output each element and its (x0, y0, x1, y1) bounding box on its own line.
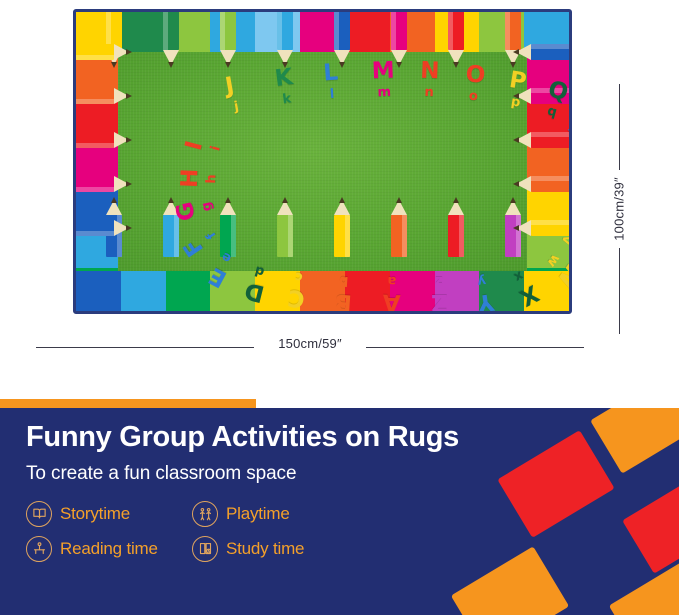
rug-letter-upper: K (273, 64, 294, 92)
rug-letter-lower: y (473, 274, 486, 288)
pencil-bottom (220, 200, 236, 257)
feature-item-study-time: Study time (192, 536, 382, 562)
rug-letter-upper: Y (475, 288, 495, 314)
open-book-icon (26, 501, 52, 527)
dimension-width: 150cm/59″ (36, 336, 584, 360)
rug-letter-lower: z (431, 274, 443, 287)
feature-label: Storytime (60, 504, 130, 524)
feature-list: StorytimePlaytimeReading timeStudy time (26, 501, 496, 562)
marketing-banner: Funny Group Activities on Rugs To create… (0, 408, 679, 615)
dimension-width-label: 150cm/59″ (36, 336, 584, 351)
diamond-red-right (622, 476, 679, 573)
feature-label: Playtime (226, 504, 290, 524)
rug-letter-lower: c (290, 269, 304, 284)
pencil-top (163, 9, 179, 65)
banner-content: Funny Group Activities on Rugs To create… (26, 422, 496, 562)
feature-item-storytime: Storytime (26, 501, 192, 527)
rug-letter-lower: d (249, 262, 266, 278)
pencil-bottom (277, 200, 293, 257)
pencil-bottom (391, 200, 407, 257)
rug-letter-upper: C (286, 284, 306, 312)
rug-letter-S: Ss (570, 140, 572, 168)
diamond-red-left (497, 430, 614, 538)
rug-letter-lower: u (569, 209, 572, 224)
pencil-band-bottom (121, 271, 166, 311)
rug-letter-upper: H (177, 168, 204, 188)
dimension-height-label: 100cm/39″ (612, 177, 627, 241)
pencil-band-bottom (166, 271, 211, 311)
rug-letter-upper: M (371, 58, 395, 85)
person-reading-icon (26, 536, 52, 562)
rug-letter-M: Mm (371, 60, 395, 100)
rug-letter-upper: B (334, 288, 353, 314)
pencil-bottom (448, 200, 464, 257)
rug-letter-lower: p (510, 95, 524, 110)
rug-letter-lower: m (377, 86, 395, 100)
rug-letter-upper: N (420, 58, 440, 85)
rug-letter-lower: b (335, 273, 348, 287)
alphabet-rug: JjKkLlMmNnOoPpQqRrSsTtUuVvWwXxYyZzAaBbCc… (73, 9, 572, 314)
rug-letter-lower: l (329, 87, 340, 101)
rug-letter-N: Nn (419, 60, 440, 100)
children-playing-icon (192, 501, 218, 527)
pencil-left (73, 220, 129, 236)
rug-letter-U: Uu (569, 204, 572, 226)
dimension-height-line-top (619, 84, 620, 170)
rug-letter-lower: h (205, 169, 218, 184)
pencil-band-bottom (76, 271, 121, 311)
rug-letter-lower: a (383, 274, 396, 287)
rug-letter-upper: A (382, 289, 401, 314)
pencil-top (391, 9, 407, 65)
rug-letter-O: Oo (463, 63, 486, 104)
dimension-height-line-bottom (619, 248, 620, 334)
product-image-area: JjKkLlMmNnOoPpQqRrSsTtUuVvWwXxYyZzAaBbCc… (0, 0, 679, 400)
pencil-left (73, 176, 129, 192)
rug-letter-upper: O (465, 61, 487, 89)
rug-letter-upper: Z (431, 289, 448, 314)
pencil-top (220, 9, 236, 65)
rug-letter-lower: k (282, 92, 296, 106)
pencil-right (516, 176, 572, 192)
pencil-top (448, 9, 464, 65)
pencil-right (516, 44, 572, 60)
pencil-top (277, 9, 293, 65)
rug-letter-lower: o (468, 90, 484, 104)
feature-item-reading-time: Reading time (26, 536, 192, 562)
feature-item-playtime: Playtime (192, 501, 382, 527)
banner-subtitle: To create a fun classroom space (26, 463, 496, 485)
pencil-left (73, 44, 129, 60)
product-listing-image: JjKkLlMmNnOoPpQqRrSsTtUuVvWwXxYyZzAaBbCc… (0, 0, 679, 615)
rug-letter-lower: n (424, 86, 439, 99)
pencil-bottom (334, 200, 350, 257)
diamond-orange-top (590, 408, 679, 474)
pencil-left (73, 88, 129, 104)
pencil-left (73, 132, 129, 148)
rug-letter-A: Aa (382, 274, 401, 314)
feature-label: Reading time (60, 539, 158, 559)
rug-letter-B: Bb (334, 273, 354, 313)
rug-letter-Z: Zz (431, 274, 448, 313)
banner-title: Funny Group Activities on Rugs (26, 422, 496, 454)
book-clock-icon (192, 536, 218, 562)
dimension-height: 100cm/39″ (606, 84, 632, 334)
rug-letter-lower: g (199, 196, 215, 212)
pencil-band-top (345, 12, 390, 52)
rug-letter-H: Hh (179, 168, 219, 189)
rug-letter-L: Ll (323, 62, 340, 102)
rug-letter-upper: L (323, 60, 339, 87)
pencil-top (334, 9, 350, 65)
feature-label: Study time (226, 539, 304, 559)
accent-bar (0, 399, 256, 408)
pencil-right (516, 132, 572, 148)
